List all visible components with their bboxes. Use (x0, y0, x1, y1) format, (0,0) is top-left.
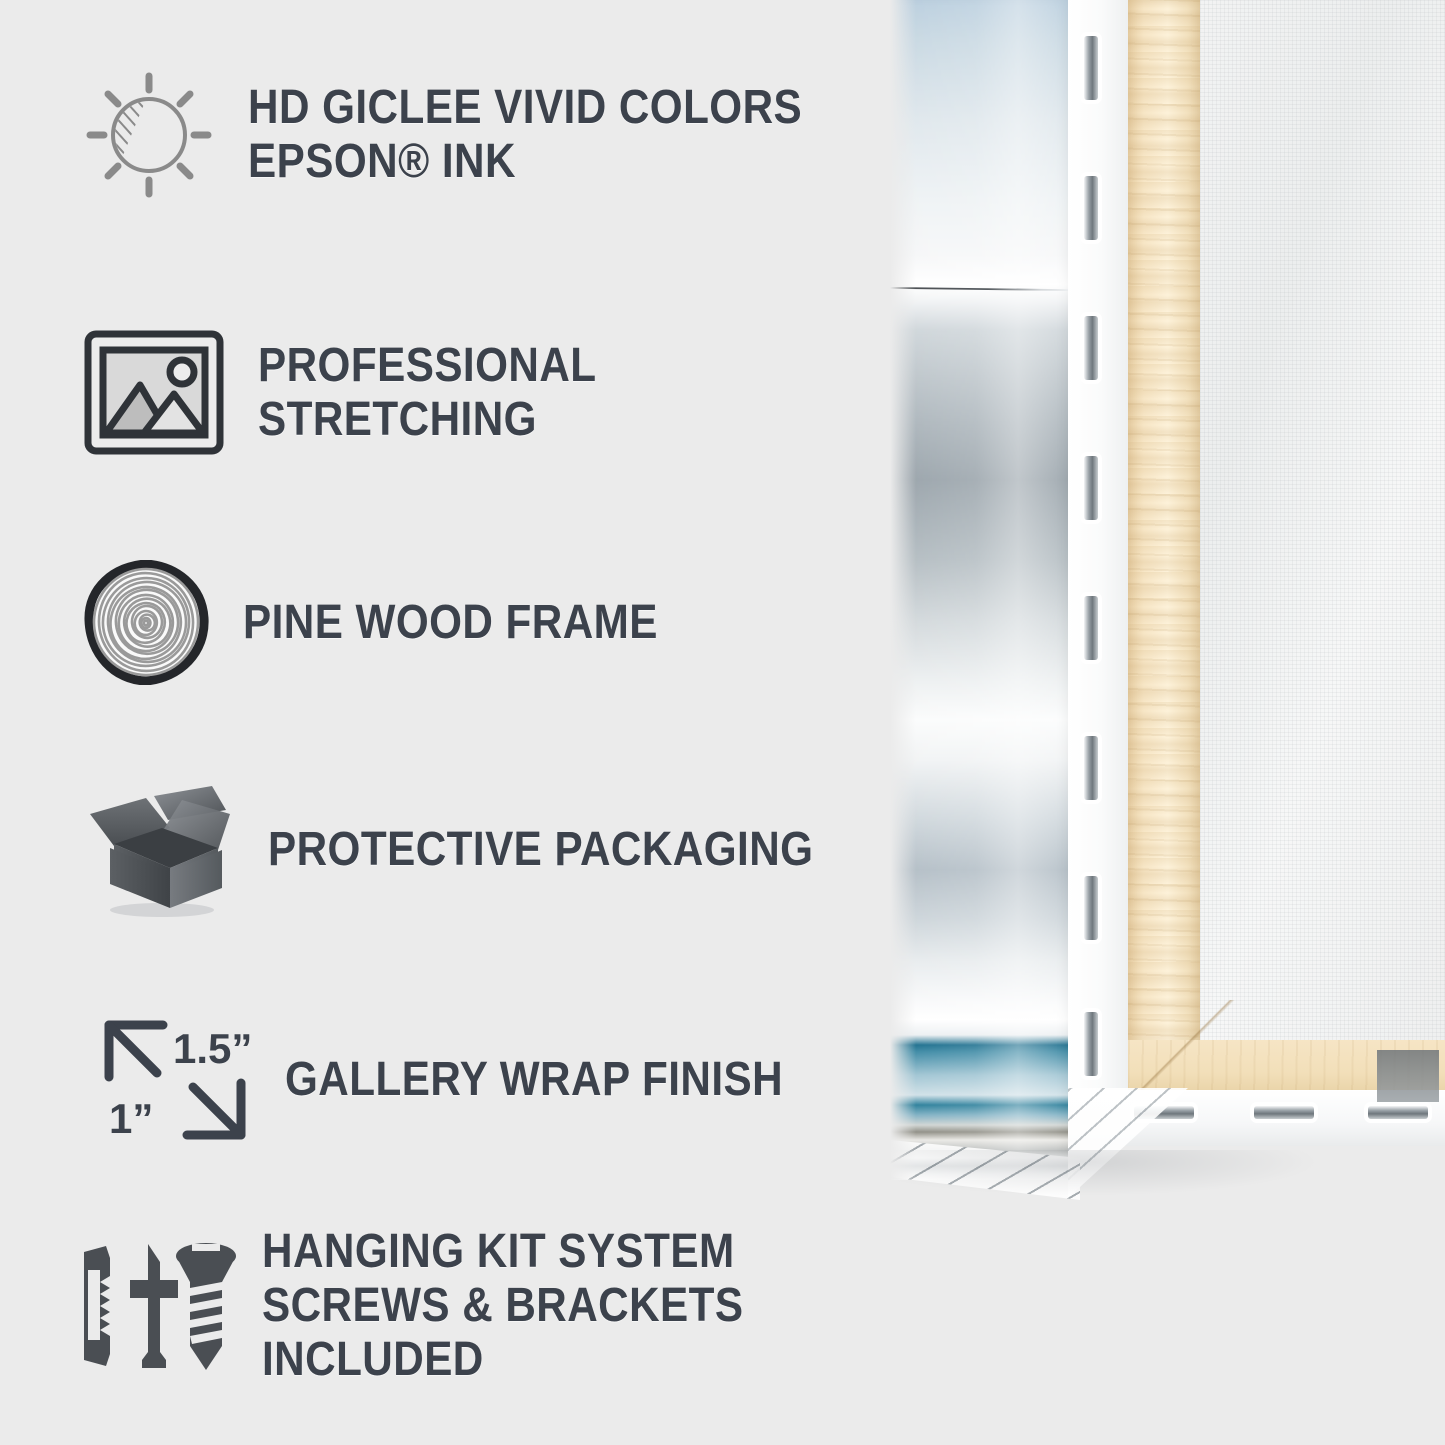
staple (1084, 1012, 1098, 1076)
staple (1084, 456, 1098, 520)
feature-gallery-wrap-finish: 1.5” 1” GALLERY WRAP FINISH (95, 1015, 851, 1145)
photo-edge-fade-bottom (890, 1245, 1445, 1445)
feature-list: HD GICLEE VIVID COLORS EPSON® INK PROFES… (0, 0, 890, 1445)
feature-label: PROTECTIVE PACKAGING (268, 823, 813, 877)
feature-hanging-kit-system: HANGING KIT SYSTEM SCREWS & BRACKETS INC… (80, 1225, 890, 1386)
canvas-backing-fabric (1200, 0, 1445, 1085)
canvas-edge-highlight (890, 0, 1068, 1180)
staple (1084, 176, 1098, 240)
frame-shadow-notch (1377, 1050, 1439, 1102)
photo-edge-fade-left (890, 0, 916, 1445)
feature-label: PINE WOOD FRAME (243, 596, 658, 650)
feature-label: PROFESSIONAL STRETCHING (258, 339, 814, 447)
staple (1084, 596, 1098, 660)
staple (1084, 316, 1098, 380)
pine-stretcher-bar-vertical (1128, 0, 1200, 1040)
open-box-icon (84, 780, 234, 920)
staple (1084, 736, 1098, 800)
staple (1368, 1106, 1428, 1119)
staple (1254, 1106, 1314, 1119)
feature-pine-wood-frame: PINE WOOD FRAME (84, 560, 715, 685)
depth-arrows-icon: 1.5” 1” (95, 1015, 255, 1145)
feature-label: HANGING KIT SYSTEM SCREWS & BRACKETS INC… (262, 1225, 815, 1386)
sun-icon (84, 70, 214, 200)
feature-label: HD GICLEE VIVID COLORS EPSON® INK (248, 81, 802, 189)
infographic-root: HD GICLEE VIVID COLORS EPSON® INK PROFES… (0, 0, 1445, 1445)
depth-bottom-label: 1” (109, 1095, 153, 1142)
staple (1084, 36, 1098, 100)
depth-top-label: 1.5” (173, 1025, 252, 1072)
feature-hd-giclee: HD GICLEE VIVID COLORS EPSON® INK (84, 70, 878, 200)
frame-miter-joint (1128, 1000, 1238, 1100)
canvas-wrapped-side (1068, 0, 1128, 1112)
hanging-hardware-icon (80, 1236, 240, 1376)
feature-professional-stretching: PROFESSIONAL STRETCHING (84, 330, 890, 455)
canvas-back-corner-photo (890, 0, 1445, 1445)
tree-ring-icon (84, 560, 209, 685)
picture-frame-icon (84, 330, 224, 455)
feature-label: GALLERY WRAP FINISH (285, 1053, 783, 1107)
feature-protective-packaging: PROTECTIVE PACKAGING (84, 780, 888, 920)
staple (1084, 876, 1098, 940)
